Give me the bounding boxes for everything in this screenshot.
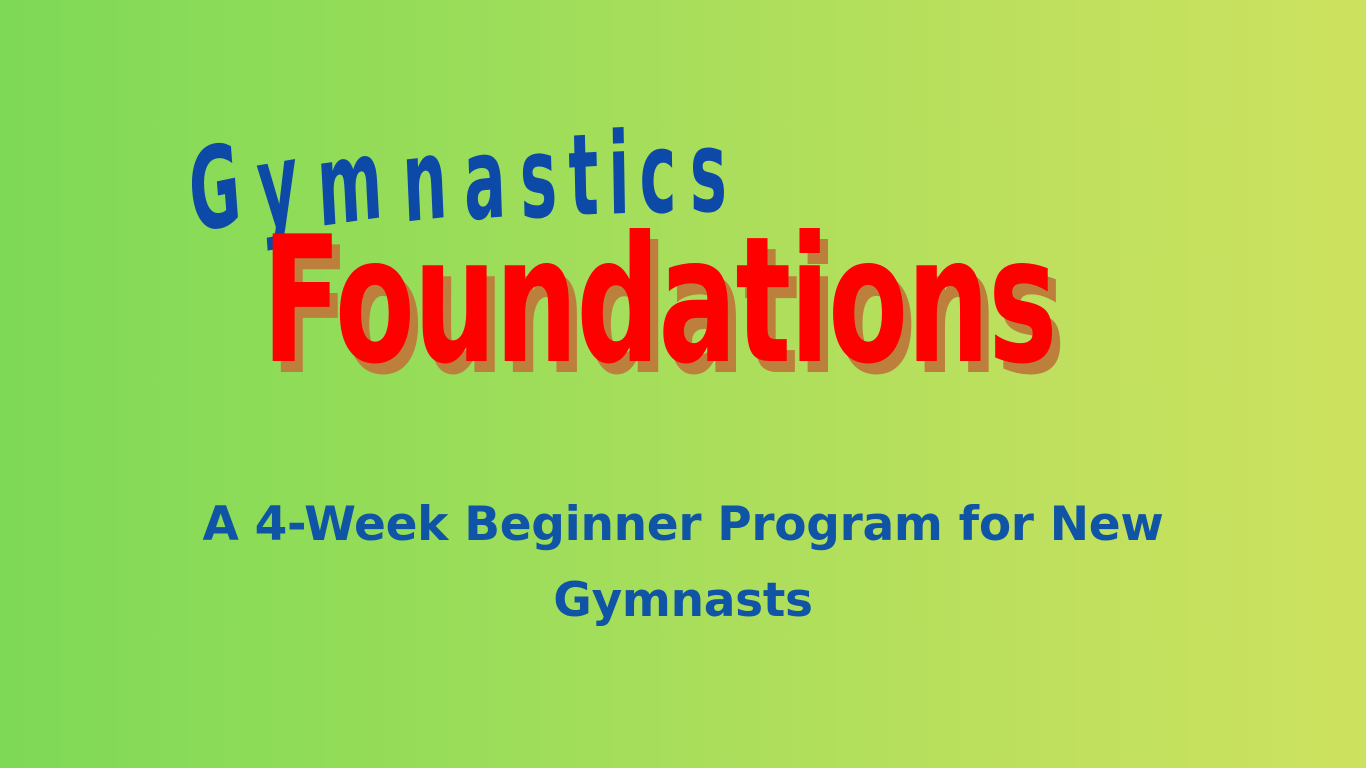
slide-canvas: Gymnastics Foundations A 4-Week Beginner… [0, 0, 1366, 768]
title-foundations: Foundations [262, 214, 1056, 389]
subtitle-line-2: Gymnasts [183, 563, 1183, 639]
title-line-2: Foundations [0, 214, 1366, 399]
subtitle-block: A 4-Week Beginner Program for New Gymnas… [183, 487, 1183, 639]
subtitle-line-1: A 4-Week Beginner Program for New [183, 487, 1183, 563]
